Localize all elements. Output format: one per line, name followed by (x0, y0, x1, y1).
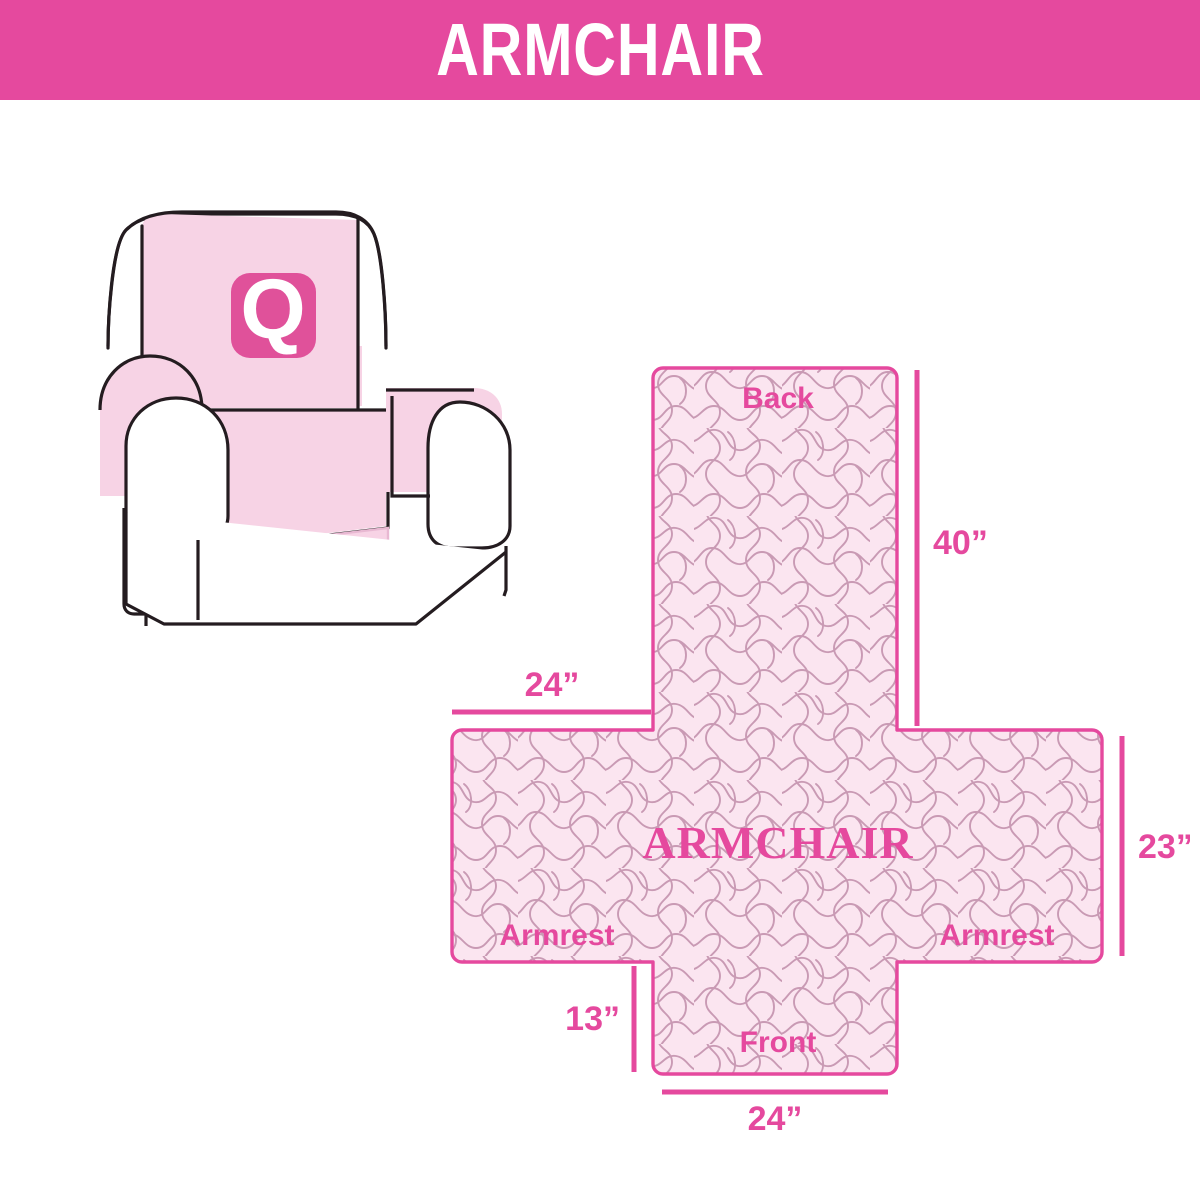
dimension-back-height: 40” (917, 370, 988, 726)
panel-label-armrest-right: Armrest (939, 919, 1054, 952)
panel-label-back: Back (742, 382, 814, 415)
dimension-body-height-label: 23” (1138, 828, 1190, 866)
brand-logo-letter: Q (240, 262, 305, 356)
diagram-center-label: ARMCHAIR (642, 817, 913, 868)
header-bar: ARMCHAIR (0, 0, 1200, 100)
cover-cross-shape (452, 368, 1102, 1074)
dimension-front-height-label: 13” (565, 1000, 620, 1038)
panel-label-armrest-left: Armrest (499, 919, 614, 952)
brand-logo: Q (231, 262, 316, 358)
dimension-front-height: 13” (565, 966, 634, 1072)
cover-layout-diagram: Back Armrest Armrest Front ARMCHAIR 40” … (430, 340, 1190, 1140)
dimension-back-height-label: 40” (933, 524, 988, 562)
dimension-front-width: 24” (662, 1092, 888, 1138)
dimension-body-height: 23” (1122, 736, 1190, 956)
panel-label-front: Front (740, 1026, 817, 1059)
dimension-armrest-width: 24” (452, 666, 651, 712)
dimension-front-width-label: 24” (748, 1100, 803, 1138)
page-title: ARMCHAIR (436, 13, 765, 87)
dimension-armrest-width-label: 24” (525, 666, 580, 704)
size-guide-page: ARMCHAIR (0, 0, 1200, 1200)
